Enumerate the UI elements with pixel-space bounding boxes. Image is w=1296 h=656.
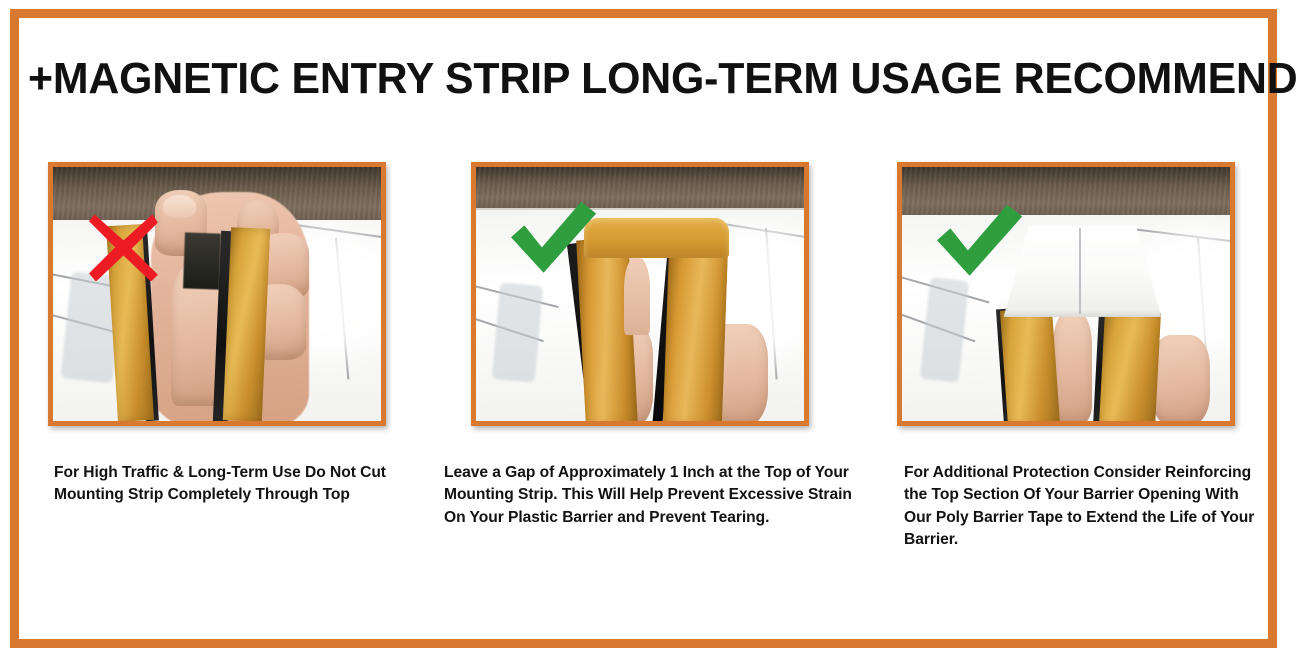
- photo-strip-cut-through: [53, 167, 381, 421]
- check-mark-icon: [506, 200, 598, 276]
- photo-panel-2: [471, 162, 809, 426]
- magnetic-strip-right: [1099, 310, 1161, 421]
- photo-panel-row: [48, 162, 1248, 426]
- magnetic-strip-right: [223, 227, 271, 421]
- photo-panel-3: [897, 162, 1235, 426]
- page-title: +MAGNETIC ENTRY STRIP LONG-TERM USAGE RE…: [28, 52, 1253, 106]
- thumbnail: [163, 195, 196, 218]
- photo-strip-gap-at-top: [476, 167, 804, 421]
- photo-poly-tape-reinforcement: [902, 167, 1230, 421]
- magnetic-strip-left: [1000, 308, 1060, 421]
- check-mark-icon: [932, 203, 1024, 279]
- photo-panel-1: [48, 162, 386, 426]
- fingertip-in-slit: [624, 258, 650, 334]
- tape-crease: [1079, 228, 1081, 314]
- caption-panel-3: For Additional Protection Consider Reinf…: [904, 462, 1256, 552]
- hand: [1151, 335, 1210, 421]
- poly-barrier-tape: [1004, 225, 1161, 316]
- caption-panel-1: For High Traffic & Long-Term Use Do Not …: [54, 462, 426, 507]
- sheeting-fold: [492, 282, 543, 382]
- caption-row: For High Traffic & Long-Term Use Do Not …: [0, 462, 1296, 582]
- cut-opening-gap: [183, 232, 221, 289]
- caption-panel-2: Leave a Gap of Approximately 1 Inch at t…: [444, 462, 864, 529]
- magnetic-strip-right: [663, 241, 728, 421]
- cross-mark-icon: [89, 213, 158, 282]
- uncut-top-section: [584, 218, 728, 259]
- poster-root: +MAGNETIC ENTRY STRIP LONG-TERM USAGE RE…: [0, 0, 1296, 656]
